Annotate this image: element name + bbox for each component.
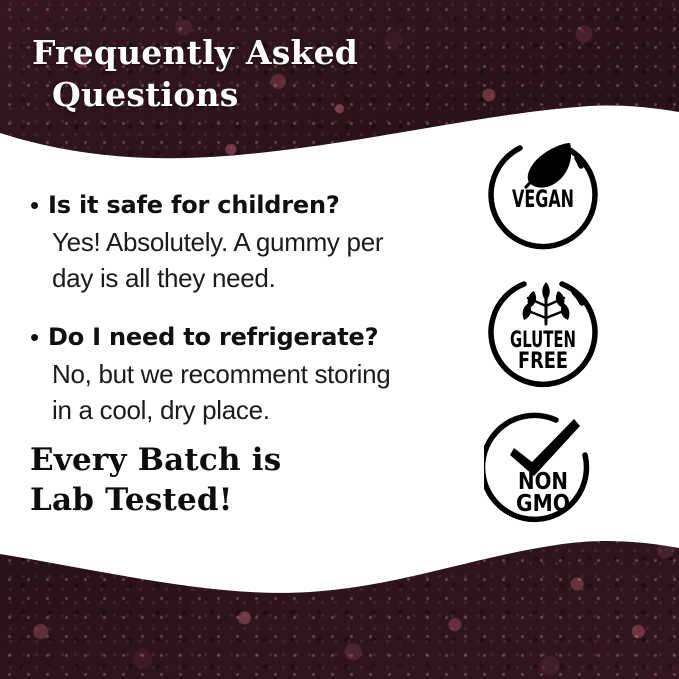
checkmark-icon bbox=[510, 419, 580, 476]
faq-list: • Is it safe for children? Yes! Absolute… bbox=[30, 190, 460, 454]
lab-tested-line-2: Lab Tested! bbox=[30, 480, 281, 520]
certification-badges: VEGAN G bbox=[484, 134, 604, 548]
faq-answer-line: day is all they need. bbox=[52, 260, 460, 296]
faq-panel: Frequently Asked Questions • Is it safe … bbox=[0, 0, 679, 679]
bullet-icon: • bbox=[30, 190, 48, 220]
faq-question-row: • Is it safe for children? bbox=[30, 190, 460, 220]
faq-item: • Is it safe for children? Yes! Absolute… bbox=[30, 190, 460, 296]
lab-tested-heading: Every Batch is Lab Tested! bbox=[30, 440, 281, 521]
badge-vegan: VEGAN bbox=[484, 134, 602, 252]
leaf-icon bbox=[526, 143, 571, 188]
badge-gluten-free: GLUTEN FREE bbox=[484, 272, 602, 390]
page-title: Frequently Asked Questions bbox=[32, 32, 452, 115]
faq-answer-line: No, but we recomment storing bbox=[52, 356, 460, 392]
faq-answer: No, but we recomment storing in a cool, … bbox=[52, 356, 460, 428]
wheat-icon bbox=[523, 282, 570, 324]
faq-answer: Yes! Absolutely. A gummy per day is all … bbox=[52, 224, 460, 296]
faq-question-row: • Do I need to refrigerate? bbox=[30, 322, 460, 352]
badge-label-free: FREE bbox=[518, 349, 568, 374]
faq-item: • Do I need to refrigerate? No, but we r… bbox=[30, 322, 460, 428]
title-line-2: Questions bbox=[52, 74, 452, 116]
badge-label-vegan: VEGAN bbox=[512, 185, 574, 213]
bullet-icon: • bbox=[30, 322, 48, 352]
faq-question: Is it safe for children? bbox=[48, 190, 340, 220]
badge-non-gmo: NON GMO bbox=[484, 410, 602, 528]
lab-tested-line-1: Every Batch is bbox=[30, 440, 281, 480]
faq-question: Do I need to refrigerate? bbox=[48, 322, 378, 352]
badge-label-gmo: GMO bbox=[516, 491, 570, 517]
faq-answer-line: Yes! Absolutely. A gummy per bbox=[52, 224, 460, 260]
faq-answer-line: in a cool, dry place. bbox=[52, 392, 460, 428]
title-line-1: Frequently Asked bbox=[32, 33, 358, 72]
